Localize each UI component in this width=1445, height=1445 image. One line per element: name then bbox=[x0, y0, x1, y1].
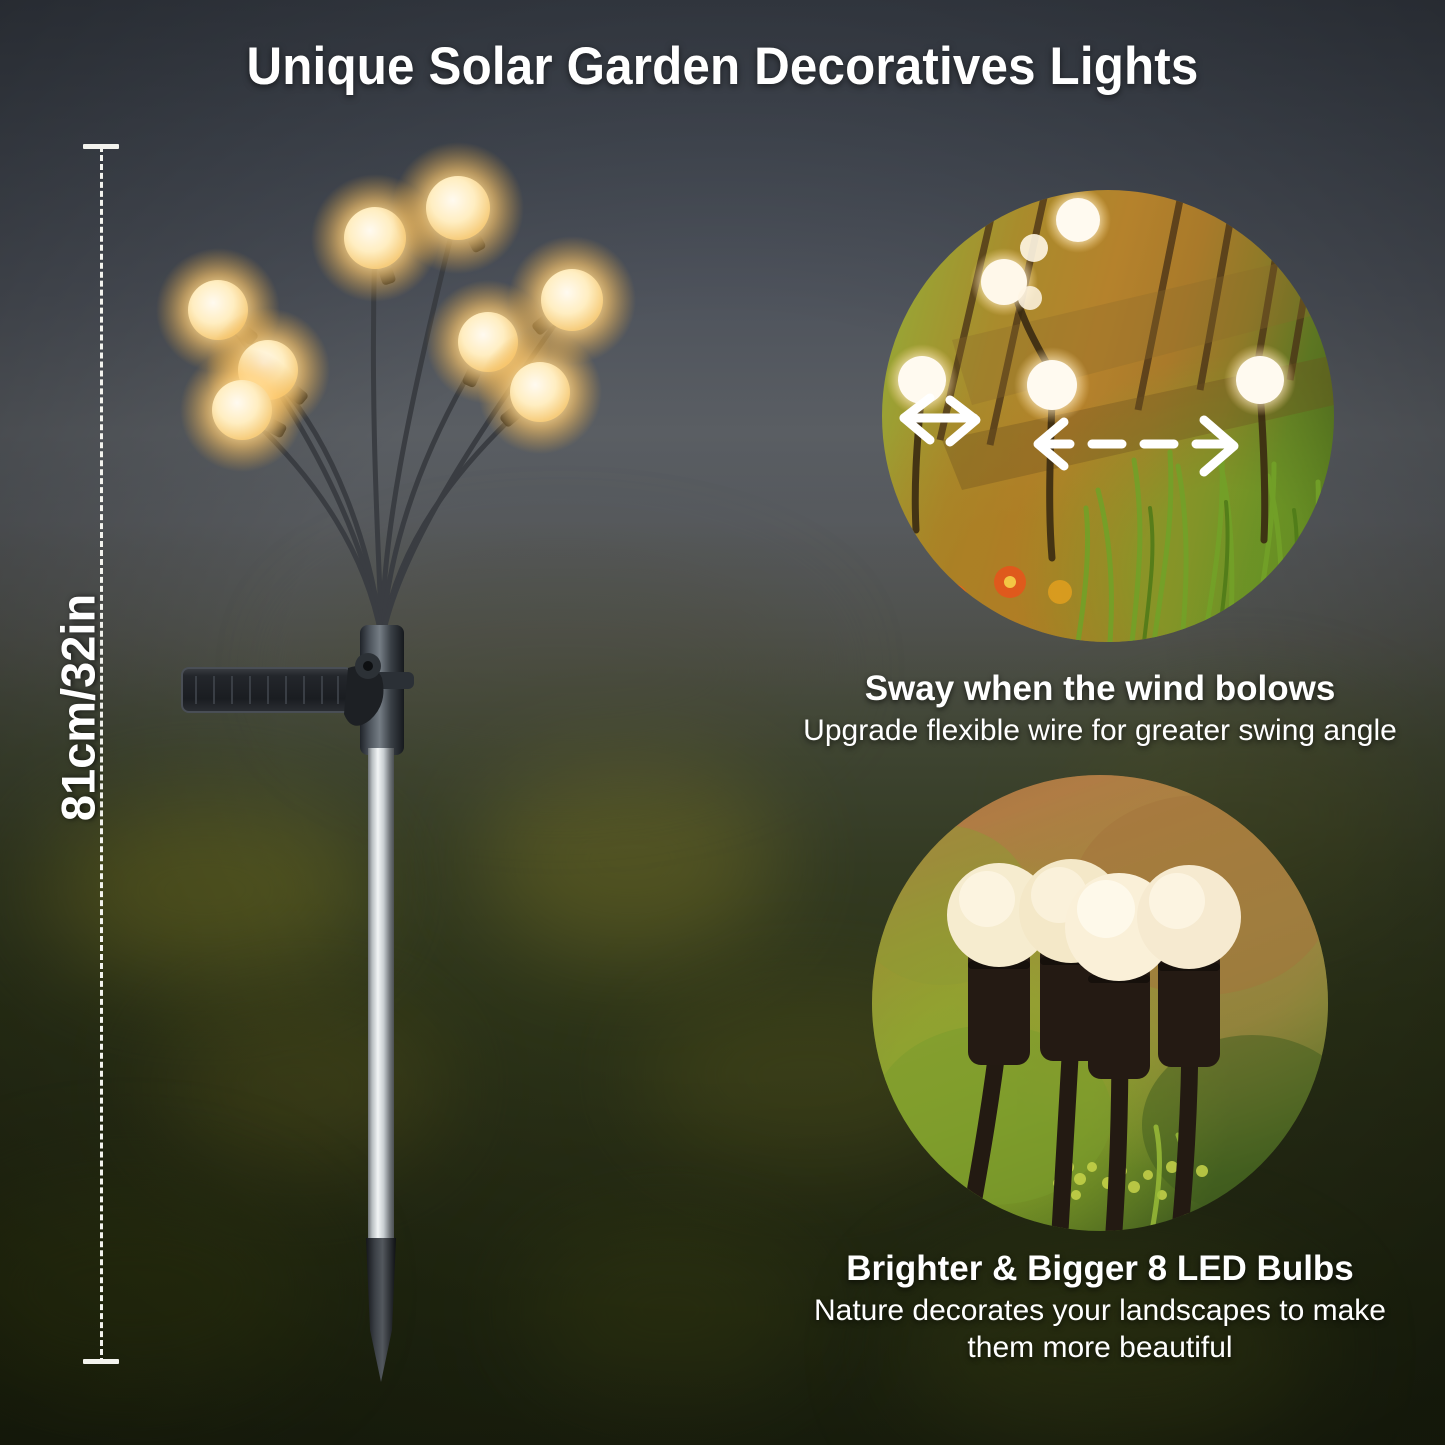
stainless-steel-stake bbox=[368, 748, 394, 1268]
dimension-cap-bottom bbox=[83, 1359, 119, 1364]
page-title: Unique Solar Garden Decoratives Lights bbox=[51, 36, 1395, 97]
bulbs-photo-scene bbox=[872, 775, 1328, 1231]
feature-subtext-sway: Upgrade flexible wire for greater swing … bbox=[800, 713, 1400, 750]
feature-subtext-bulbs-line1: Nature decorates your landscapes to make bbox=[790, 1293, 1410, 1330]
product-infographic: Unique Solar Garden Decoratives Lights 8… bbox=[0, 0, 1445, 1445]
feature-image-sway bbox=[882, 190, 1334, 642]
feature-heading-sway: Sway when the wind bolows bbox=[800, 668, 1400, 709]
solar-panel bbox=[182, 653, 384, 726]
feature-caption-sway: Sway when the wind bolows Upgrade flexib… bbox=[800, 668, 1400, 750]
led-bulbs bbox=[156, 142, 636, 472]
dimension-label: 81cm/32in bbox=[51, 488, 106, 928]
product-image bbox=[120, 120, 740, 1420]
feature-image-bulbs bbox=[872, 775, 1328, 1231]
feature-subtext-bulbs-line2: them more beautiful bbox=[790, 1330, 1410, 1367]
feature-heading-bulbs: Brighter & Bigger 8 LED Bulbs bbox=[790, 1248, 1410, 1289]
feature-caption-bulbs: Brighter & Bigger 8 LED Bulbs Nature dec… bbox=[790, 1248, 1410, 1366]
ground-spike-tip bbox=[366, 1238, 396, 1382]
sway-photo-scene bbox=[882, 190, 1334, 642]
